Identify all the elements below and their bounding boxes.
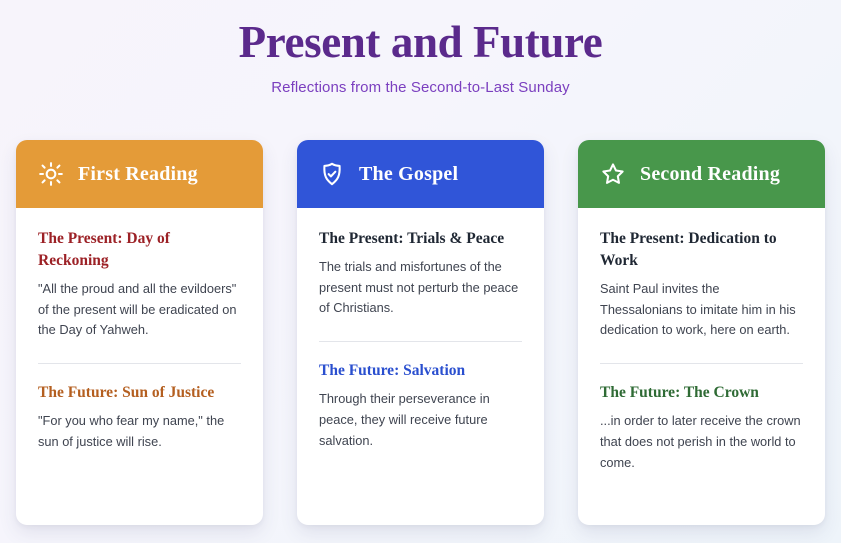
card-header-first-reading: First Reading xyxy=(16,140,263,208)
page-header: Present and Future Reflections from the … xyxy=(0,0,841,96)
future-text-the-gospel: Through their perseverance in peace, the… xyxy=(319,389,522,451)
section-divider xyxy=(38,363,241,364)
present-text-second-reading: Saint Paul invites the Thessalonians to … xyxy=(600,279,803,341)
shield-check-icon xyxy=(319,161,345,187)
page-subtitle: Reflections from the Second-to-Last Sund… xyxy=(0,79,841,96)
section-divider xyxy=(600,363,803,364)
card-first-reading[interactable]: First Reading The Present: Day of Reckon… xyxy=(16,140,263,525)
future-text-first-reading: "For you who fear my name," the sun of j… xyxy=(38,411,241,452)
present-text-the-gospel: The trials and misfortunes of the presen… xyxy=(319,257,522,319)
card-header-the-gospel: The Gospel xyxy=(297,140,544,208)
present-heading-second-reading: The Present: Dedication to Work xyxy=(600,228,803,272)
present-text-first-reading: "All the proud and all the evildoers" of… xyxy=(38,279,241,341)
star-icon xyxy=(600,161,626,187)
sun-icon xyxy=(38,161,64,187)
card-title-the-gospel: The Gospel xyxy=(359,163,458,186)
card-body-first-reading: The Present: Day of Reckoning "All the p… xyxy=(16,208,263,525)
card-second-reading[interactable]: Second Reading The Present: Dedication t… xyxy=(578,140,825,525)
card-body-second-reading: The Present: Dedication to Work Saint Pa… xyxy=(578,208,825,525)
future-heading-second-reading: The Future: The Crown xyxy=(600,382,803,404)
present-heading-the-gospel: The Present: Trials & Peace xyxy=(319,228,522,250)
reading-card-grid: First Reading The Present: Day of Reckon… xyxy=(16,140,825,525)
card-body-the-gospel: The Present: Trials & Peace The trials a… xyxy=(297,208,544,525)
future-heading-first-reading: The Future: Sun of Justice xyxy=(38,382,241,404)
card-title-second-reading: Second Reading xyxy=(640,163,780,186)
page-title: Present and Future xyxy=(0,18,841,68)
future-text-second-reading: ...in order to later receive the crown t… xyxy=(600,411,803,473)
section-divider xyxy=(319,341,522,342)
present-heading-first-reading: The Present: Day of Reckoning xyxy=(38,228,241,272)
future-heading-the-gospel: The Future: Salvation xyxy=(319,360,522,382)
card-header-second-reading: Second Reading xyxy=(578,140,825,208)
card-the-gospel[interactable]: The Gospel The Present: Trials & Peace T… xyxy=(297,140,544,525)
card-title-first-reading: First Reading xyxy=(78,163,198,186)
